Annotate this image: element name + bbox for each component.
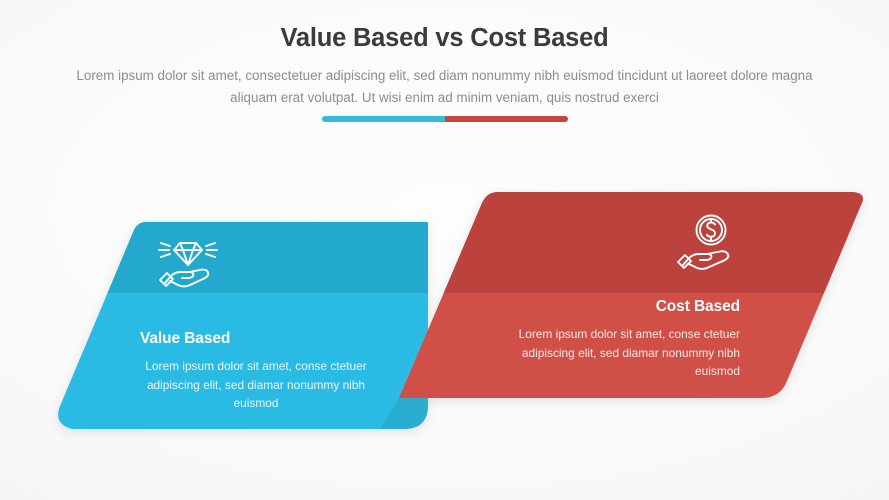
card-body-cost-based: Lorem ipsum dolor sit amet, conse ctetue…: [490, 325, 740, 381]
cards-canvas: [0, 0, 889, 500]
card-text-cost-based: Cost Based Lorem ipsum dolor sit amet, c…: [490, 298, 740, 381]
card-heading-cost-based: Cost Based: [490, 298, 740, 316]
infographic-slide: Value Based vs Cost Based Lorem ipsum do…: [0, 0, 889, 500]
card-body-value-based: Lorem ipsum dolor sit amet, conse ctetue…: [131, 357, 381, 413]
red-card-header-band: [390, 180, 880, 293]
cards-area: Value Based Lorem ipsum dolor sit amet, …: [0, 0, 889, 500]
card-heading-value-based: Value Based: [131, 330, 381, 348]
card-text-value-based: Value Based Lorem ipsum dolor sit amet, …: [131, 330, 381, 413]
hand-holding-diamond-icon: [156, 231, 220, 291]
hand-holding-coin-icon: [674, 213, 738, 273]
blue-card-header-band: [40, 210, 440, 293]
